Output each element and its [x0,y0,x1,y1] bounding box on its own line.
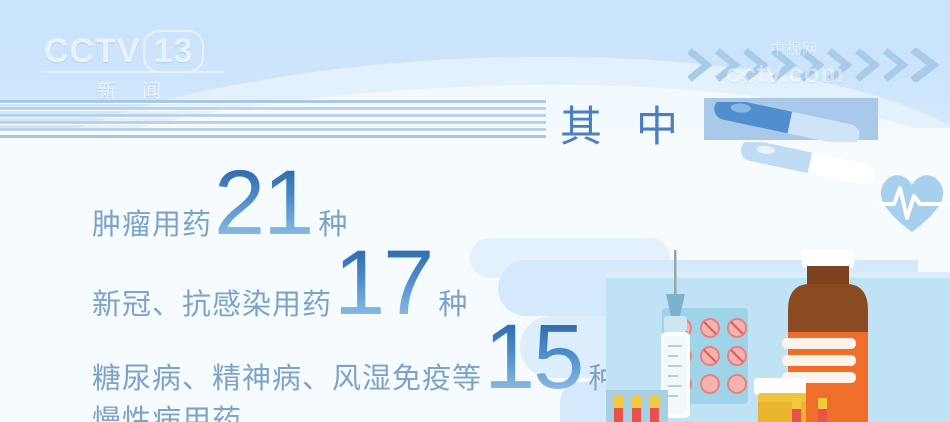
decor-stripe-rule [0,100,546,144]
infographic-canvas: CCTV13 新 闻 中视网 cctv.com 其中 [0,0,950,422]
capsule-pill-icon-lower [738,142,888,189]
stat-label-chronic-stack: 糖尿病、精神病、风湿免疫等 15 种 慢性病用药 [92,322,617,422]
stat-value-antiinfective: 17 [334,248,432,320]
heart-ecg-icon [874,166,950,236]
page-title: 其中 [560,93,712,154]
medical-illustration [606,250,950,422]
stat-row-oncology: 肿瘤用药 21 种 [92,168,347,243]
stat-label-chronic-line1: 糖尿病、精神病、风湿免疫等 [92,361,482,396]
stat-value-chronic: 15 [484,322,582,394]
stat-label-chronic-line2: 慢性病用药 [92,403,617,422]
stat-label-oncology: 肿瘤用药 [92,207,212,242]
stat-label-antiinfective: 新冠、抗感染用药 [92,287,332,322]
stat-unit-antiinfective: 种 [438,281,467,323]
stat-chronic-first-line: 糖尿病、精神病、风湿免疫等 15 种 [92,322,617,397]
stat-row-chronic: 糖尿病、精神病、风湿免疫等 15 种 慢性病用药 [92,322,617,422]
stat-value-oncology: 21 [214,168,312,240]
stat-row-antiinfective: 新冠、抗感染用药 17 种 [92,248,467,323]
chevron-arrows-icon [688,48,940,82]
capsule-pill-icon-upper [712,102,872,147]
